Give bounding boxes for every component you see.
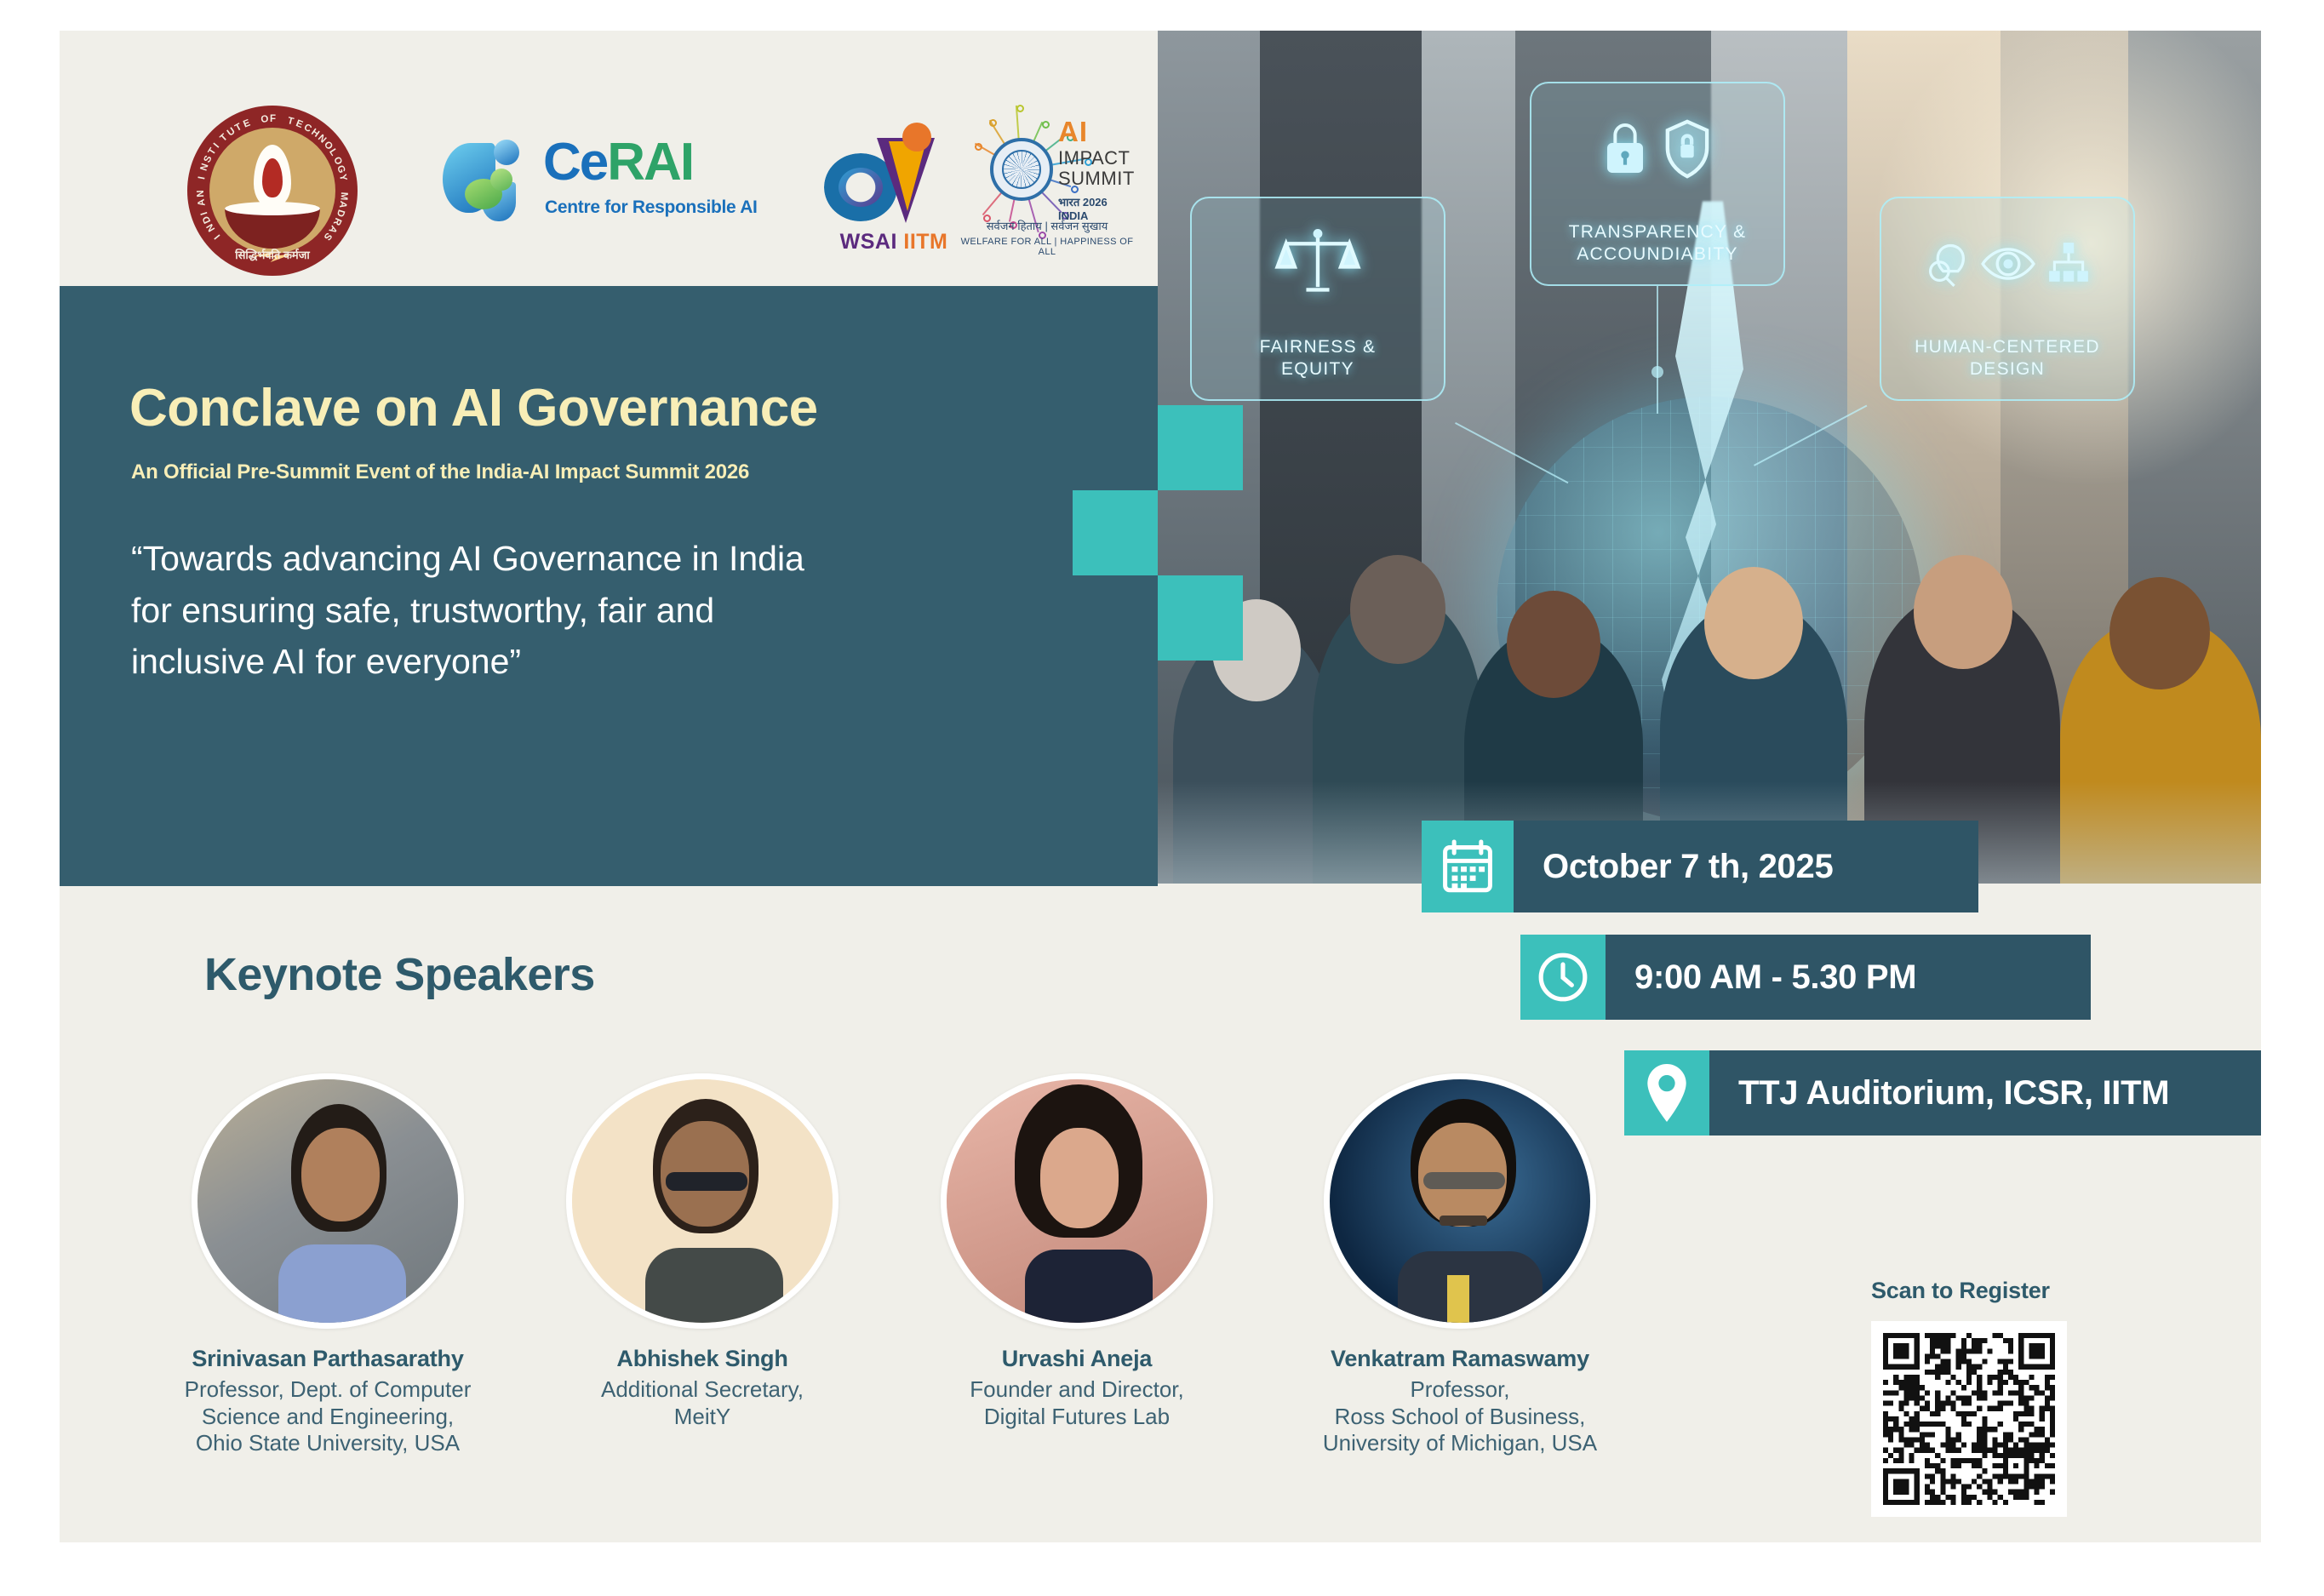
aiis-impact-text: IMPACT: [1058, 148, 1135, 169]
logo-bar: INDIAN INSTITUTE OF TECHNOLOGY MADRAS सि…: [60, 31, 1158, 286]
concept-link-dot: [1651, 366, 1663, 378]
cerai-logo: CeRAI Centre for Responsible AI: [443, 131, 783, 233]
eye-icon: [1981, 242, 2035, 292]
speaker-name: Venkatram Ramaswamy: [1311, 1346, 1609, 1372]
location-pin-icon: [1624, 1050, 1709, 1136]
wsai-iitm-logo: WSAI IITM: [809, 124, 979, 269]
wsai-wordmark: WSAI IITM: [809, 230, 979, 255]
concept-card-transparency: TRANSPARENCY & ACCOUNDIABITY: [1530, 82, 1785, 286]
speaker-card: Urvashi Aneja Founder and Director, Digi…: [928, 1073, 1226, 1430]
speaker-affiliation: Professor, Dept. of Computer Science and…: [179, 1376, 477, 1457]
keynote-speakers-heading: Keynote Speakers: [204, 948, 595, 1001]
aiis-impact-summit-text: IMPACT SUMMIT: [1058, 148, 1135, 189]
hero-person-head: [1507, 591, 1600, 698]
speaker-card: Abhishek Singh Additional Secretary, Mei…: [553, 1073, 851, 1430]
speaker-affiliation: Additional Secretary, MeitY: [553, 1376, 851, 1430]
quote-line-1: “Towards advancing AI Governance in Indi…: [131, 533, 1059, 585]
hero-person-head: [1704, 567, 1803, 679]
accent-square: [1073, 490, 1158, 575]
speaker-photo: [566, 1073, 839, 1329]
quote-line-3: inclusive AI for everyone”: [131, 636, 1059, 688]
speaker-card: Srinivasan Parthasarathy Professor, Dept…: [179, 1073, 477, 1457]
event-time-text: 9:00 AM - 5.30 PM: [1606, 935, 2091, 1020]
speaker-photo: [192, 1073, 464, 1329]
event-date-badge: October 7 th, 2025: [1422, 821, 1978, 912]
ashoka-chakra-icon: [990, 138, 1053, 201]
cerai-rai-text: RAI: [607, 133, 693, 192]
aiis-motto-hindi: सर्वजन हिताय | सर्वजन सुखाय: [958, 218, 1136, 233]
hero-person-head: [2109, 577, 2210, 689]
concept-label-line2: ACCOUNDIABITY: [1577, 243, 1738, 266]
speaker-photo: [1324, 1073, 1596, 1329]
page-subtitle: An Official Pre-Summit Event of the Indi…: [131, 460, 749, 484]
theme-quote: “Towards advancing AI Governance in Indi…: [131, 533, 1059, 688]
aiis-summit-text: SUMMIT: [1058, 169, 1135, 189]
calendar-icon: [1422, 821, 1514, 912]
seal-motto: सिद्धिर्भवति कर्मजा: [187, 247, 358, 262]
page-title: Conclave on AI Governance: [129, 378, 818, 438]
aiis-ai-text: AI: [1058, 117, 1088, 146]
ai-impact-summit-logo: AI IMPACT SUMMIT भारत 2026 INDIA सर्वजन …: [958, 112, 1136, 266]
cerai-ce-text: Ce: [543, 133, 607, 192]
concept-card-fairness: FAIRNESS & EQUITY: [1190, 197, 1445, 401]
scan-to-register-label: Scan to Register: [1871, 1278, 2127, 1304]
concept-label-line2: EQUITY: [1281, 358, 1354, 380]
qr-canvas: [1883, 1333, 2055, 1505]
speaker-card: Venkatram Ramaswamy Professor, Ross Scho…: [1311, 1073, 1609, 1457]
quote-line-2: for ensuring safe, trustworthy, fair and: [131, 585, 1059, 637]
speaker-affiliation: Professor, Ross School of Business, Univ…: [1311, 1376, 1609, 1457]
lamp-bud-icon: [262, 158, 283, 197]
concept-card-human-centered: HUMAN-CENTERED DESIGN: [1880, 197, 2135, 401]
brain-search-icon: [1925, 240, 1969, 294]
wsai-mark-icon: [824, 124, 960, 226]
speaker-photo: [941, 1073, 1213, 1329]
hierarchy-icon: [2047, 241, 2090, 293]
register-section: Scan to Register: [1871, 1278, 2127, 1517]
event-venue-badge: TTJ Auditorium, ICSR, IITM: [1624, 1050, 2261, 1136]
event-date-text: October 7 th, 2025: [1514, 821, 1978, 912]
iit-madras-seal-logo: INDIAN INSTITUTE OF TECHNOLOGY MADRAS सि…: [187, 106, 358, 276]
registration-qr-code[interactable]: [1871, 1321, 2067, 1517]
wsai-label: WSAI: [840, 230, 897, 254]
accent-square: [1158, 575, 1243, 661]
speaker-name: Srinivasan Parthasarathy: [179, 1346, 477, 1372]
hero-image: TRANSPARENCY & ACCOUNDIABITY FAIRNESS & …: [1158, 31, 2261, 884]
concept-label-line1: HUMAN-CENTERED: [1915, 336, 2100, 358]
cerai-mark-icon: [443, 136, 528, 221]
speaker-name: Abhishek Singh: [553, 1346, 851, 1372]
title-panel: Conclave on AI Governance An Official Pr…: [60, 286, 1158, 886]
clock-icon: [1520, 935, 1606, 1020]
concept-label-line2: DESIGN: [1970, 358, 2045, 380]
cerai-tagline: Centre for Responsible AI: [545, 197, 758, 218]
hero-person-head: [1914, 555, 2012, 669]
shield-lock-icon: [1661, 118, 1714, 186]
lock-icon: [1601, 121, 1649, 183]
concept-link-line: [1657, 286, 1658, 414]
hero-person-head: [1350, 555, 1445, 664]
concept-label-line1: FAIRNESS &: [1260, 336, 1377, 358]
event-venue-text: TTJ Auditorium, ICSR, IITM: [1709, 1050, 2261, 1136]
event-poster: INDIAN INSTITUTE OF TECHNOLOGY MADRAS सि…: [60, 31, 2261, 1542]
aiis-motto-english: WELFARE FOR ALL | HAPPINESS OF ALL: [958, 237, 1136, 257]
cerai-wordmark: CeRAI: [543, 136, 693, 189]
concept-label-line1: TRANSPARENCY &: [1569, 221, 1747, 243]
accent-square: [1158, 405, 1243, 490]
scales-icon: [1274, 226, 1362, 307]
wsai-iitm-label: IITM: [897, 230, 947, 254]
speaker-name: Urvashi Aneja: [928, 1346, 1226, 1372]
speaker-affiliation: Founder and Director, Digital Futures La…: [928, 1376, 1226, 1430]
event-time-badge: 9:00 AM - 5.30 PM: [1520, 935, 2091, 1020]
